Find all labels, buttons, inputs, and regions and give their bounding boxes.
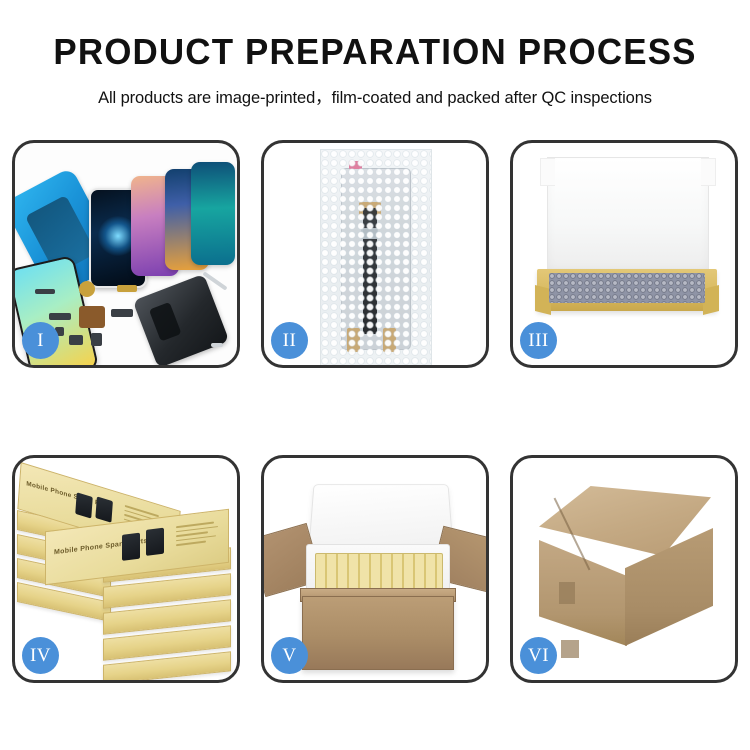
step-badge-3: III [520, 322, 557, 359]
step-badge-1: I [22, 322, 59, 359]
step-badge-4: IV [22, 637, 59, 674]
carton-front-wall [302, 596, 454, 670]
spare-part-bar [35, 289, 55, 294]
phone-display-teal [191, 162, 235, 265]
grey-foam-padding [549, 273, 705, 303]
spare-part-chip-grid [79, 306, 105, 328]
box-label-screen-back-1 [75, 492, 93, 518]
spare-part-flex-gold [117, 285, 137, 292]
step-panel-2: II [261, 140, 489, 368]
box-label-screen-back-2 [95, 496, 113, 522]
bubble-wrap-bag [320, 149, 432, 365]
step-panel-5: V [261, 455, 489, 683]
step-panel-6: VI [510, 455, 738, 683]
spare-part-flex-cable-2 [111, 309, 133, 317]
box-label-screen-front-2 [146, 528, 164, 556]
bubble-texture [321, 150, 431, 365]
carton-tape-patch-upper [559, 582, 575, 604]
step-panel-1: I [12, 140, 240, 368]
spare-part-speaker [69, 335, 83, 345]
step-badge-5: V [271, 637, 308, 674]
step-badge-6: VI [520, 637, 557, 674]
page-root: PRODUCT PREPARATION PROCESS All products… [0, 0, 750, 750]
spare-part-flex-cable-1 [49, 313, 71, 320]
spare-part-coil [79, 281, 95, 297]
white-foam-lid [547, 157, 709, 277]
page-title: PRODUCT PREPARATION PROCESS [11, 34, 739, 70]
spare-part-camera-module [91, 333, 102, 346]
process-steps-grid: I II [12, 140, 738, 683]
tray-flap-right [703, 285, 719, 315]
carton-tape-patch-lower [561, 640, 579, 658]
box-label-screen-front-1 [122, 533, 140, 561]
page-subtitle: All products are image-printed，film-coat… [0, 84, 750, 108]
step-badge-2: II [271, 322, 308, 359]
step-panel-4: Mobile Phone Spare Parts Mobile Phone Sp… [12, 455, 240, 683]
spare-part-screws [211, 343, 223, 347]
page-header: PRODUCT PREPARATION PROCESS All products… [0, 0, 750, 108]
step-panel-3: III [510, 140, 738, 368]
kraft-box-tray [537, 269, 717, 311]
box-label-lines-front [176, 521, 222, 549]
phone-back-housing [133, 274, 230, 365]
